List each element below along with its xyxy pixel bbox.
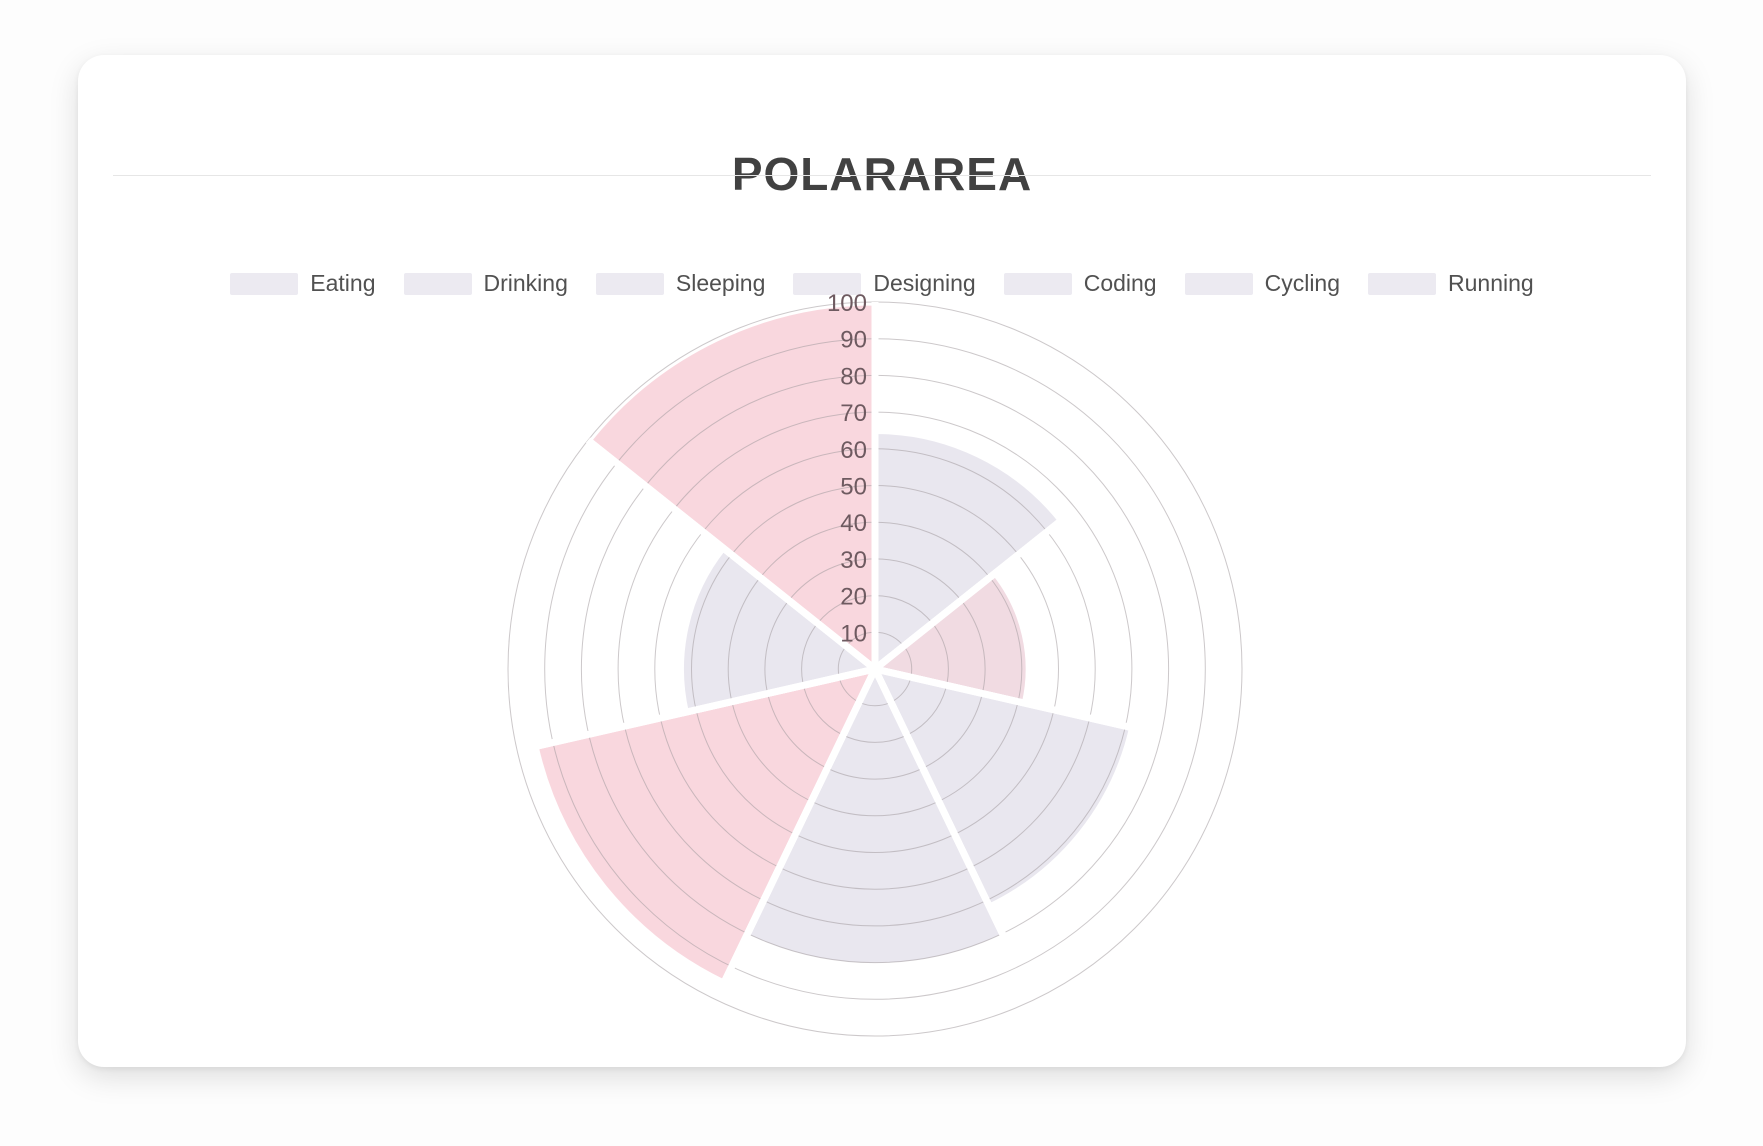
polar-sectors-layer[interactable] <box>535 302 1133 983</box>
polar-area-plot: 102030405060708090100 <box>78 55 1686 1067</box>
radial-tick-label-30: 30 <box>840 547 867 574</box>
radial-tick-label-80: 80 <box>840 363 867 390</box>
radial-tick-label-70: 70 <box>840 400 867 427</box>
radial-tick-label-90: 90 <box>840 327 867 354</box>
radial-tick-label-100: 100 <box>827 290 867 317</box>
radial-tick-label-50: 50 <box>840 474 867 501</box>
page-root: POLARAREA Eating Drinking Sleeping Desig… <box>0 0 1763 1146</box>
chart-card: POLARAREA Eating Drinking Sleeping Desig… <box>78 55 1686 1067</box>
radial-tick-label-10: 10 <box>840 620 867 647</box>
polar-area-svg: 102030405060708090100 <box>78 55 1686 1067</box>
radial-tick-label-60: 60 <box>840 437 867 464</box>
radial-tick-label-40: 40 <box>840 510 867 537</box>
radial-tick-label-20: 20 <box>840 584 867 611</box>
